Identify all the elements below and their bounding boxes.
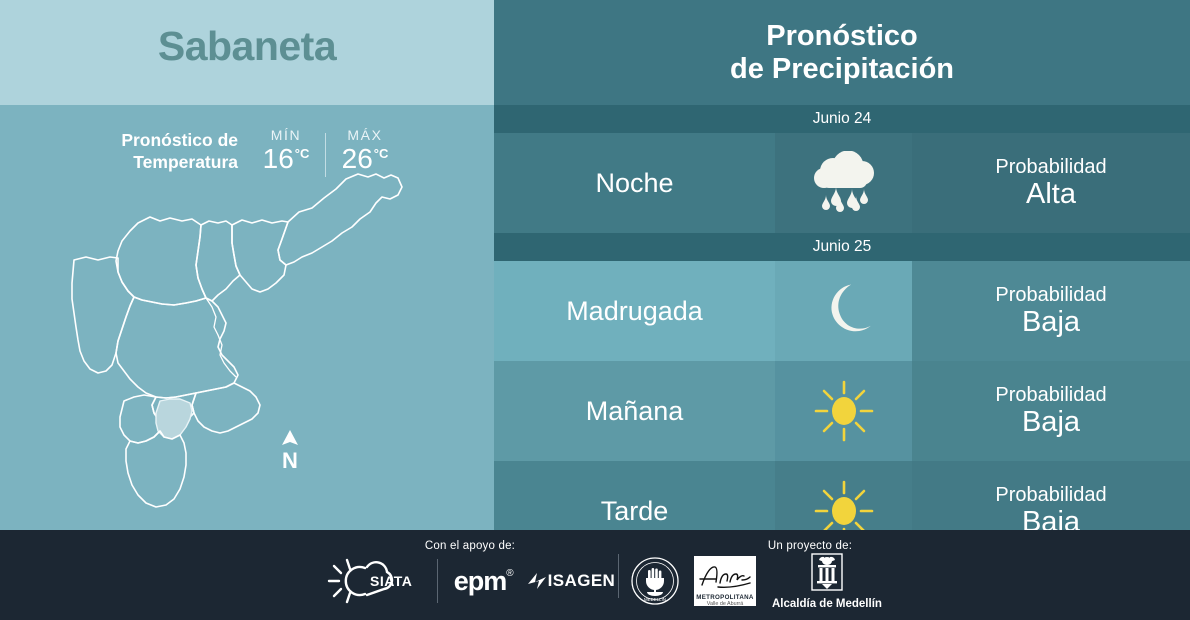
forecast-title-line1: Pronóstico [766,20,917,52]
probability-value: Baja [1022,406,1080,438]
date-label-first: Junio 24 [813,110,872,128]
date-strip-first: Junio 24 [494,105,1190,133]
forecast-icon-cell [775,261,912,361]
forecast-row-tarde: Tarde Pro [494,461,1190,530]
forecast-row-madrugada: Madrugada Probabilidad Baja [494,261,1190,361]
forecast-time-cell: Noche [494,133,775,233]
area-signature-icon [694,561,756,589]
isagen-logo[interactable]: ISAGEN [526,571,616,591]
temperature-max-label: MÁX [337,127,393,143]
date-label-second: Junio 25 [813,238,872,256]
universidad-seal-icon[interactable]: MEDELLIN [630,556,680,606]
probability-label: Probabilidad [995,156,1106,178]
alcaldia-crest-icon [807,552,847,594]
forecast-title-line2: de Precipitación [730,53,954,85]
probability-label: Probabilidad [995,484,1106,506]
forecast-probability-cell: Probabilidad Baja [912,461,1190,530]
sun-icon [811,478,877,530]
forecast-time-label: Madrugada [566,296,703,327]
footer-divider [618,554,619,598]
rain-cloud-icon [807,151,881,215]
compass-rose: N [275,430,305,472]
forecast-icon-cell [775,133,912,233]
probability-label: Probabilidad [995,384,1106,406]
forecast-icon-cell [775,361,912,461]
footer-divider [437,559,438,603]
footer: Con el apoyo de: SIATA [0,530,1190,620]
forecast-time-label: Mañana [586,396,684,427]
forecast-time-label: Tarde [601,496,669,527]
seal-text: MEDELLIN [644,597,666,602]
unit-celsius: °C [374,146,389,161]
precipitation-panel: Pronóstico de Precipitación Junio 24 Noc… [494,0,1190,530]
forecast-time-cell: Madrugada [494,261,775,361]
unit-celsius: °C [295,146,310,161]
page-title: Sabaneta [0,23,494,70]
epm-registered-mark: ® [506,568,513,579]
forecast-probability-cell: Probabilidad Baja [912,361,1190,461]
map-zone: Pronóstico de Temperatura MÍN 16°C MÁX 2… [0,105,494,530]
compass-arrow-icon [279,430,301,446]
temperature-title-line1: Pronóstico de [62,130,238,152]
probability-label: Probabilidad [995,284,1106,306]
support-caption: Con el apoyo de: [320,540,620,552]
forecast-probability-cell: Probabilidad Alta [912,133,1190,233]
left-panel: Sabaneta Pronóstico de Temperatura MÍN 1… [0,0,494,530]
compass-north-label: N [275,450,305,472]
support-logos: SIATA epm ® ISAGEN [320,552,620,610]
forecast-row-noche: Noche [494,133,1190,233]
project-logos: MEDELLIN METROPOLITANA [630,552,920,610]
moon-icon [815,282,873,340]
infographic-root: Sabaneta Pronóstico de Temperatura MÍN 1… [0,0,1190,620]
forecast-time-cell: Tarde [494,461,775,530]
forecast-row-manana: Mañana Pr [494,361,1190,461]
epm-logo[interactable]: epm ® [454,566,514,597]
probability-value: Alta [1026,178,1076,210]
probability-value: Baja [1022,506,1080,530]
probability-value: Baja [1022,306,1080,338]
footer-project-group: Un proyecto de: MEDELLIN [630,530,920,620]
forecast-header: Pronóstico de Precipitación [494,0,1190,105]
area-caption-line1: METROPOLITANA [694,594,756,601]
isagen-mark-icon [526,571,548,591]
forecast-time-cell: Mañana [494,361,775,461]
forecast-time-label: Noche [595,168,673,199]
siata-logo-icon[interactable]: SIATA [325,555,421,607]
footer-support-group: Con el apoyo de: SIATA [320,530,620,620]
date-strip-second: Junio 25 [494,233,1190,261]
aburra-valley-map [46,165,446,515]
area-caption-line2: Valle de Aburrá [694,601,756,607]
forecast-probability-cell: Probabilidad Baja [912,261,1190,361]
siata-wordmark: SIATA [370,573,412,589]
forecast-icon-cell [775,461,912,530]
area-metropolitana-logo[interactable]: METROPOLITANA Valle de Aburrá [694,556,756,606]
sun-icon [811,378,877,444]
isagen-wordmark: ISAGEN [548,571,616,591]
alcaldia-wordmark: Alcaldía de Medellín [772,598,882,610]
temperature-min-label: MÍN [258,127,314,143]
epm-wordmark: epm [454,566,507,597]
project-caption: Un proyecto de: [700,540,920,552]
alcaldia-logo[interactable]: Alcaldía de Medellín [772,552,882,610]
